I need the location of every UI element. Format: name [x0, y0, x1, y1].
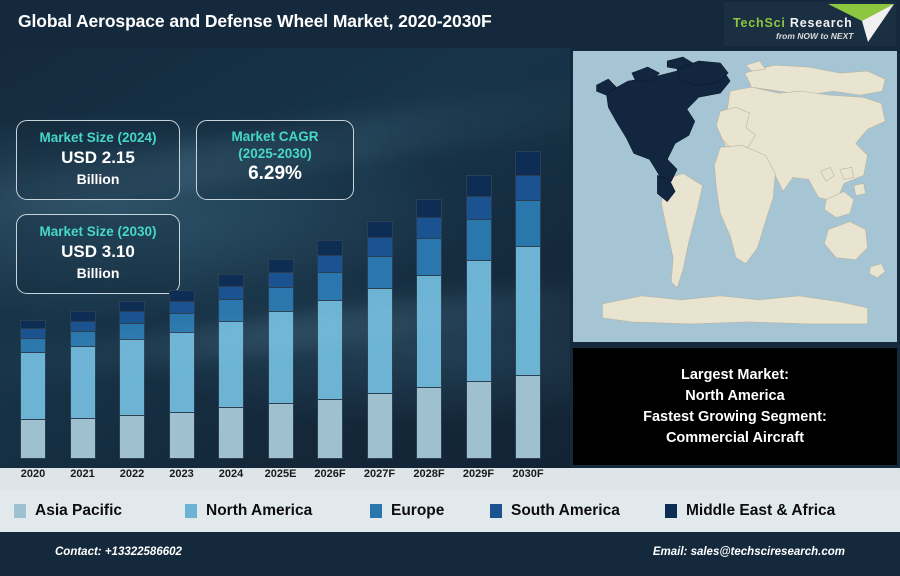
bar-segment: [268, 403, 294, 459]
legend-swatch: [14, 504, 26, 518]
bar-segment: [70, 321, 96, 331]
bar-segment: [416, 238, 442, 275]
legend-item-asia-pacific[interactable]: Asia Pacific: [14, 502, 122, 520]
legend-item-north-america[interactable]: North America: [185, 502, 312, 520]
techsci-logo[interactable]: TechSci Research from NOW to NEXT: [724, 2, 896, 46]
x-axis-label: 2020: [5, 468, 61, 480]
legend-label: North America: [206, 502, 312, 520]
bar-segment: [367, 393, 393, 459]
bar-segment: [466, 381, 492, 459]
legend-swatch: [490, 504, 502, 518]
bar-segment: [515, 246, 541, 375]
bar-2022: [119, 301, 145, 459]
bar-segment: [70, 418, 96, 459]
legend-label: South America: [511, 502, 620, 520]
x-axis-label: 2029F: [451, 468, 507, 480]
x-axis-label: 2026F: [302, 468, 358, 480]
bar-segment: [317, 240, 343, 255]
bar-segment: [119, 415, 145, 459]
legend-item-europe[interactable]: Europe: [370, 502, 444, 520]
world-map-panel: [570, 48, 900, 345]
legend-item-south-america[interactable]: South America: [490, 502, 620, 520]
bar-segment: [466, 196, 492, 220]
bar-segment: [70, 346, 96, 418]
bar-2025E: [268, 259, 294, 459]
bar-segment: [515, 151, 541, 175]
x-axis-label: 2025E: [253, 468, 309, 480]
bar-segment: [169, 301, 195, 313]
bar-2023: [169, 290, 195, 459]
bar-segment: [70, 331, 96, 346]
largest-market-value: North America: [685, 386, 784, 407]
x-axis-label: 2024: [203, 468, 259, 480]
bar-2024: [218, 274, 244, 459]
bar-segment: [70, 311, 96, 320]
bar-segment: [317, 300, 343, 399]
infographic-root: Global Aerospace and Defense Wheel Marke…: [0, 0, 900, 576]
bar-2029F: [466, 175, 492, 459]
logo-name-research: Research: [786, 16, 853, 30]
bar-segment: [20, 338, 46, 352]
fastest-segment-label: Fastest Growing Segment:: [643, 407, 827, 428]
bar-segment: [416, 275, 442, 388]
chart-panel: Market Size (2024) USD 2.15 Billion Mark…: [0, 48, 570, 468]
largest-market-label: Largest Market:: [681, 365, 789, 386]
stacked-bar-chart: [0, 48, 570, 468]
x-axis-label: 2021: [55, 468, 111, 480]
footer-email: Email: sales@techsciresearch.com: [653, 546, 845, 558]
page-title: Global Aerospace and Defense Wheel Marke…: [18, 11, 492, 32]
world-map: [573, 51, 897, 342]
bar-segment: [218, 407, 244, 459]
bar-segment: [169, 412, 195, 459]
legend-label: Middle East & Africa: [686, 502, 835, 520]
x-axis-label: 2022: [104, 468, 160, 480]
bar-segment: [218, 274, 244, 286]
bar-segment: [317, 399, 343, 459]
bar-segment: [515, 175, 541, 200]
bar-segment: [367, 288, 393, 393]
bar-segment: [466, 175, 492, 196]
bar-2027F: [367, 221, 393, 459]
bar-segment: [119, 301, 145, 311]
bar-segment: [268, 272, 294, 287]
bar-segment: [20, 320, 46, 328]
bar-segment: [169, 290, 195, 301]
bar-segment: [169, 332, 195, 412]
bar-segment: [367, 256, 393, 288]
footer-contact: Contact: +13322586602: [55, 546, 182, 558]
legend-item-middle-east-africa[interactable]: Middle East & Africa: [665, 502, 835, 520]
bar-2028F: [416, 199, 442, 459]
footer-bar: Contact: +13322586602 Email: sales@techs…: [0, 532, 900, 576]
bar-segment: [20, 352, 46, 420]
bar-segment: [218, 286, 244, 299]
bar-segment: [218, 299, 244, 321]
key-facts-box: Largest Market: North America Fastest Gr…: [570, 345, 900, 468]
bar-2030F: [515, 151, 541, 459]
legend-label: Europe: [391, 502, 444, 520]
header-bar: Global Aerospace and Defense Wheel Marke…: [0, 0, 900, 48]
bar-segment: [119, 339, 145, 414]
bar-segment: [416, 217, 442, 238]
x-axis-label: 2023: [154, 468, 210, 480]
legend-swatch: [185, 504, 197, 518]
bar-segment: [367, 237, 393, 256]
bar-segment: [119, 311, 145, 322]
x-axis-label: 2027F: [352, 468, 408, 480]
fastest-segment-value: Commercial Aircraft: [666, 428, 804, 449]
bar-2020: [20, 320, 46, 459]
bar-segment: [466, 260, 492, 380]
bar-segment: [416, 387, 442, 459]
x-axis-labels: 202020212022202320242025E2026F2027F2028F…: [0, 468, 570, 490]
logo-tagline: from NOW to NEXT: [776, 31, 853, 41]
logo-name-techsci: TechSci: [733, 16, 786, 30]
bar-segment: [466, 219, 492, 260]
bar-segment: [515, 375, 541, 459]
bar-segment: [119, 323, 145, 340]
legend-swatch: [370, 504, 382, 518]
bar-segment: [416, 199, 442, 217]
bar-segment: [20, 328, 46, 337]
bar-segment: [367, 221, 393, 237]
logo-wordmark: TechSci Research: [733, 16, 853, 30]
chart-legend: Asia PacificNorth AmericaEuropeSouth Ame…: [0, 490, 900, 532]
legend-label: Asia Pacific: [35, 502, 122, 520]
bar-2021: [70, 311, 96, 459]
bar-segment: [317, 272, 343, 300]
bar-segment: [317, 255, 343, 272]
bar-2026F: [317, 240, 343, 459]
bar-segment: [268, 287, 294, 311]
x-axis-label: 2030F: [500, 468, 556, 480]
bar-segment: [268, 311, 294, 403]
bar-segment: [515, 200, 541, 246]
bar-segment: [20, 419, 46, 459]
bar-segment: [218, 321, 244, 408]
x-axis-label: 2028F: [401, 468, 457, 480]
bar-segment: [268, 259, 294, 272]
legend-swatch: [665, 504, 677, 518]
bar-segment: [169, 313, 195, 332]
